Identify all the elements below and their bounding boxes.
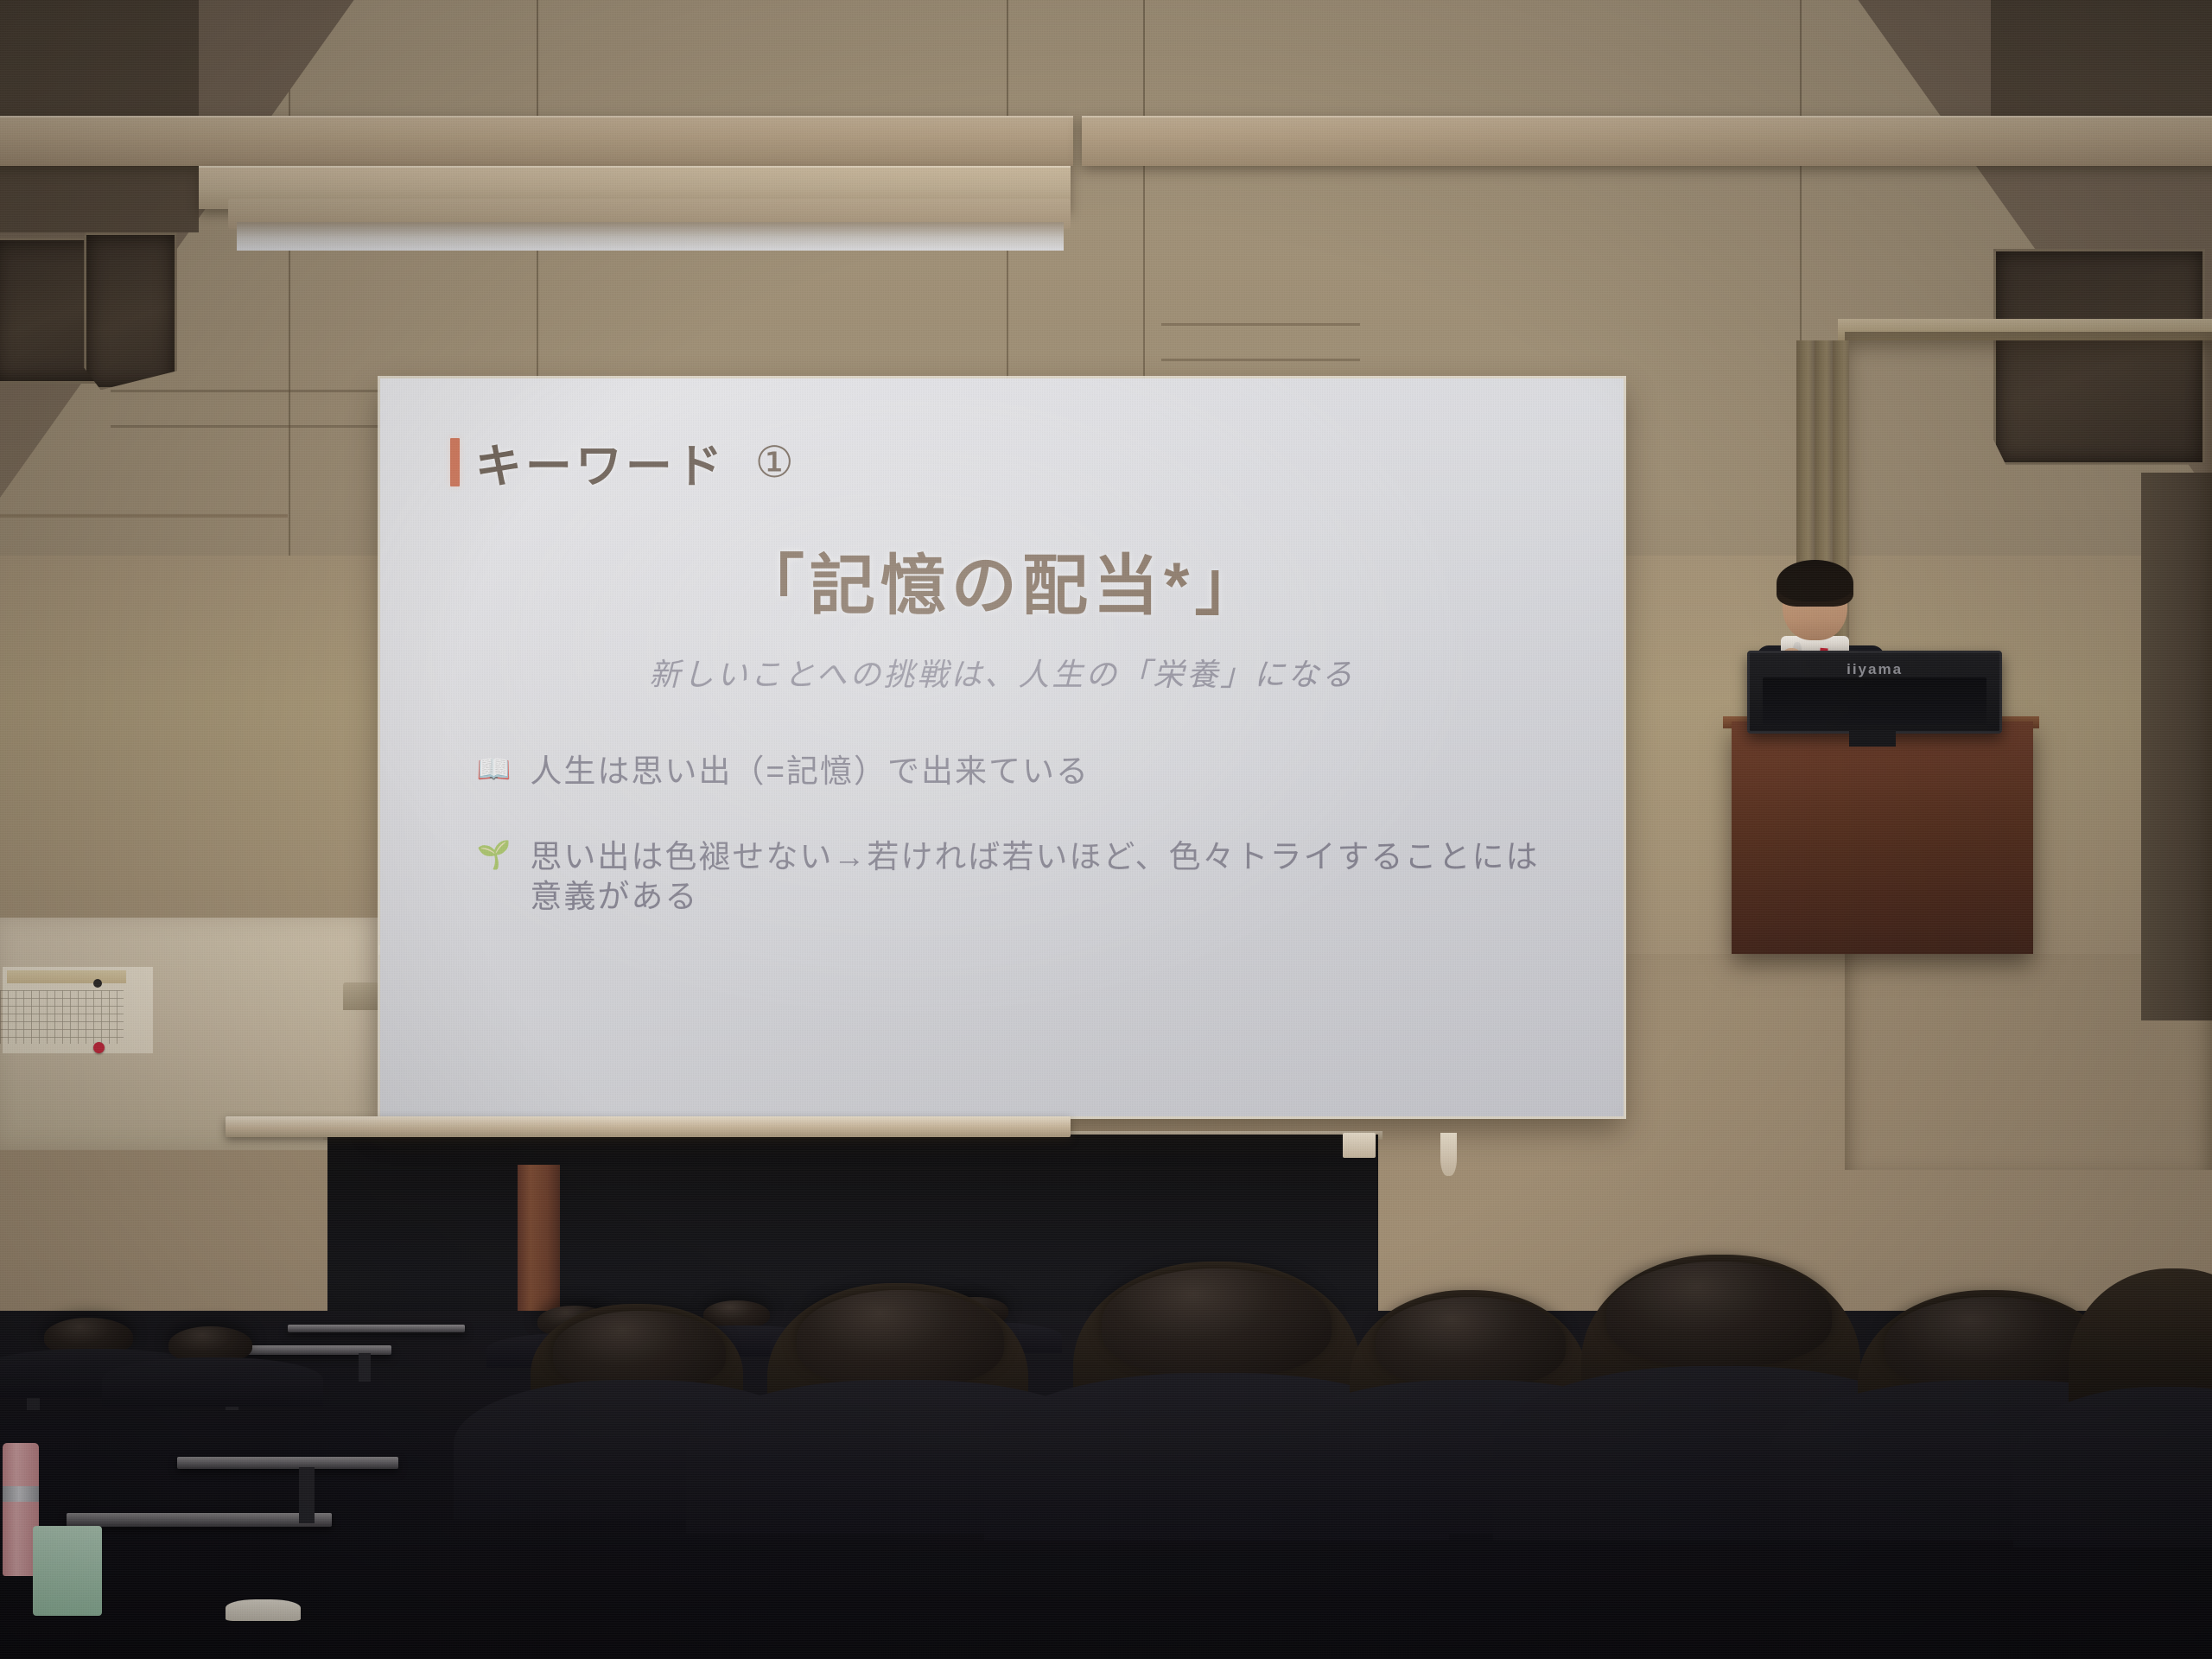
lecture-hall-scene: キーワード ① 「記憶の配当*」 新しいことへの挑戦は、人生の「栄養」になる 📖… <box>0 0 2212 1659</box>
slide-content: キーワード ① 「記憶の配当*」 新しいことへの挑戦は、人生の「栄養」になる 📖… <box>380 378 1624 1116</box>
bullet-text: 人生は思い出（=記憶）で出来ている <box>530 752 1090 791</box>
accent-bar-icon <box>450 438 460 486</box>
presenter-hair-front <box>1778 570 1851 601</box>
screen-weight-bar[interactable] <box>226 1116 1071 1137</box>
bulletin-paper-strip <box>7 970 126 982</box>
audience-head <box>1376 1297 1566 1388</box>
slide-bullet-list: 📖 人生は思い出（=記憶）で出来ている 🌱 思い出は色褪せない→若ければ若いほど… <box>450 752 1554 917</box>
screen-pull-hook-icon[interactable] <box>1440 1133 1457 1176</box>
audience-white-shirt <box>226 1599 301 1621</box>
slide-subheading: 新しいことへの挑戦は、人生の「栄養」になる <box>450 650 1554 695</box>
screen-bracket <box>1343 1133 1376 1158</box>
podium <box>1732 721 2032 954</box>
ceiling-beam-right <box>1082 116 2212 166</box>
mint-green-pouch[interactable] <box>33 1526 101 1616</box>
slide-eyebrow-label: キーワード <box>475 428 726 496</box>
audience-head <box>553 1311 726 1391</box>
list-item: 📖 人生は思い出（=記憶）で出来ている <box>477 752 1554 791</box>
grid-chart-poster <box>0 990 124 1043</box>
seedling-icon: 🌱 <box>477 837 512 872</box>
audience-shoulders <box>102 1357 323 1406</box>
lecture-desk <box>67 1513 332 1527</box>
wall-speaker-grille <box>84 232 177 390</box>
desk-leg <box>359 1353 371 1381</box>
projection-screen: キーワード ① 「記憶の配当*」 新しいことへの挑戦は、人生の「栄養」になる 📖… <box>380 378 1624 1116</box>
presenter-monitor[interactable]: iiyama <box>1747 651 2001 734</box>
open-book-icon: 📖 <box>477 752 512 786</box>
slide-heading: 「記憶の配当*」 <box>450 532 1554 627</box>
audience-head <box>1606 1262 1832 1366</box>
audience-head <box>1102 1268 1332 1376</box>
monitor-brand-label: iiyama <box>1750 661 1999 678</box>
wall-hook <box>343 982 378 1011</box>
screen-top-shadow <box>237 222 1064 251</box>
audience-area <box>0 1311 2212 1659</box>
red-pin-icon <box>93 1042 105 1053</box>
audience-head <box>1885 1297 2097 1391</box>
list-item: 🌱 思い出は色褪せない→若ければ若いほど、色々トライすることには意義がある <box>477 837 1554 918</box>
thermos-band <box>3 1486 39 1501</box>
dark-pin-icon <box>93 979 102 988</box>
lecture-desk <box>177 1457 398 1469</box>
audience-head <box>797 1290 1005 1388</box>
desk-leg <box>299 1467 315 1523</box>
ceiling-beam-left <box>0 116 1073 166</box>
monitor-stand <box>1849 730 1896 747</box>
monitor-screen <box>1763 677 1987 724</box>
bullet-text: 思い出は色褪せない→若ければ若いほど、色々トライすることには意義がある <box>530 837 1554 918</box>
slide-eyebrow: キーワード ① <box>450 428 1554 496</box>
lecture-desk <box>288 1325 465 1332</box>
slide-eyebrow-number: ① <box>755 437 794 487</box>
